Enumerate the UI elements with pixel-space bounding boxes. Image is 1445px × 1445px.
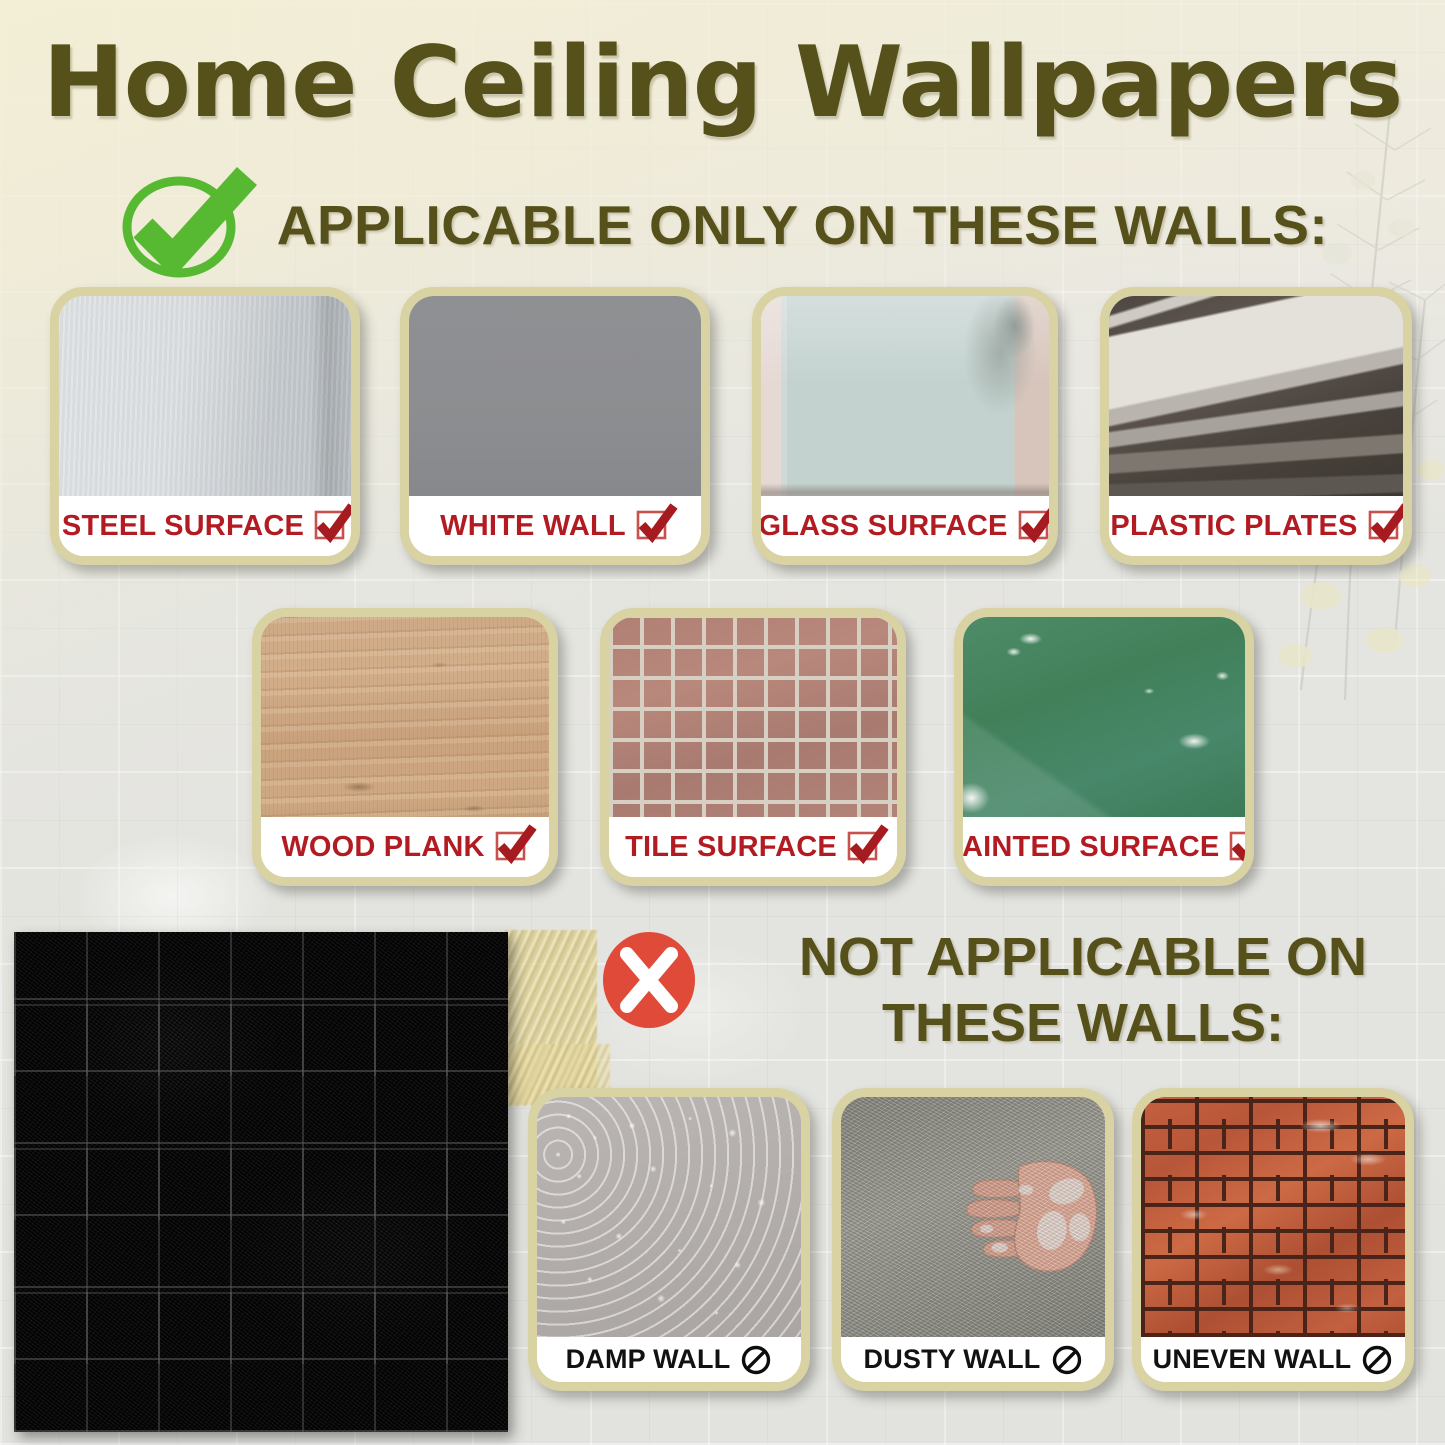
prohibition-icon	[1051, 1344, 1083, 1376]
card-label-strip: PLASTIC PLATES	[1109, 496, 1403, 556]
card-painted-surface[interactable]: PAINTED SURFACE	[954, 608, 1254, 886]
glass-surface-photo	[761, 296, 1049, 514]
panel-brick-offset-rows	[14, 932, 508, 1432]
card-label: WHITE WALL	[440, 510, 626, 543]
white-wall-photo	[409, 296, 701, 514]
applicable-header-row: APPLICABLE ONLY ON THESE WALLS:	[0, 170, 1445, 280]
applicable-subtitle: APPLICABLE ONLY ON THESE WALLS:	[277, 193, 1328, 257]
card-tile-surface[interactable]: TILE SURFACE	[600, 608, 906, 886]
card-dusty-wall[interactable]: DUSTY WALL	[832, 1088, 1114, 1391]
not-applicable-subtitle: NOT APPLICABLE ON THESE WALLS:	[726, 925, 1440, 1057]
card-label-strip: UNEVEN WALL	[1141, 1337, 1405, 1382]
prohibition-icon	[740, 1344, 772, 1376]
card-label-strip: WHITE WALL	[409, 496, 701, 556]
card-label: STEEL SURFACE	[62, 510, 304, 543]
uneven-brick-wall-photo	[1141, 1097, 1405, 1337]
card-label: DUSTY WALL	[864, 1344, 1041, 1375]
card-label: PLASTIC PLATES	[1110, 510, 1357, 543]
red-x-circle-icon	[600, 931, 698, 1029]
card-steel-surface[interactable]: STEEL SURFACE	[50, 287, 360, 565]
card-label: PAINTED SURFACE	[954, 831, 1219, 864]
dusty-wall-photo	[841, 1097, 1105, 1337]
red-check-box-icon	[1018, 510, 1052, 542]
card-label-strip: PAINTED SURFACE	[963, 817, 1245, 877]
red-check-box-icon	[636, 510, 670, 542]
not-applicable-header-row: NOT APPLICABLE ON THESE WALLS:	[600, 925, 1440, 1057]
plastic-plates-photo	[1109, 296, 1403, 514]
card-uneven-wall[interactable]: UNEVEN WALL	[1132, 1088, 1414, 1391]
card-label-strip: WOOD PLANK	[261, 817, 549, 877]
painted-surface-photo	[963, 617, 1245, 835]
card-white-wall[interactable]: WHITE WALL	[400, 287, 710, 565]
card-label-strip: DUSTY WALL	[841, 1337, 1105, 1382]
not-applicable-line-1: NOT APPLICABLE ON	[726, 925, 1440, 991]
green-check-circle-icon	[117, 170, 255, 280]
card-label: DAMP WALL	[566, 1344, 731, 1375]
card-wood-plank[interactable]: WOOD PLANK	[252, 608, 558, 886]
red-check-box-icon	[495, 831, 529, 863]
card-label: WOOD PLANK	[281, 831, 484, 864]
brick-offset-rows	[1141, 1097, 1405, 1337]
card-label-strip: DAMP WALL	[537, 1337, 801, 1382]
card-label-strip: GLASS SURFACE	[761, 496, 1049, 556]
card-damp-wall[interactable]: DAMP WALL	[528, 1088, 810, 1391]
red-check-box-icon	[314, 510, 348, 542]
steel-surface-photo	[59, 296, 351, 514]
card-plastic-plates[interactable]: PLASTIC PLATES	[1100, 287, 1412, 565]
wood-plank-photo	[261, 617, 549, 835]
card-label: GLASS SURFACE	[758, 510, 1007, 543]
black-3d-brick-foam-panel	[14, 932, 508, 1432]
card-label-strip: STEEL SURFACE	[59, 496, 351, 556]
hand-icon	[936, 1131, 1105, 1294]
not-applicable-line-2: THESE WALLS:	[726, 991, 1440, 1057]
page-title: Home Ceiling Wallpapers	[0, 26, 1445, 140]
card-glass-surface[interactable]: GLASS SURFACE	[752, 287, 1058, 565]
brick-highlights	[1141, 1097, 1405, 1337]
card-label: UNEVEN WALL	[1153, 1344, 1352, 1375]
card-label: TILE SURFACE	[625, 831, 837, 864]
infographic-poster: Home Ceiling Wallpapers APPLICABLE ONLY …	[0, 0, 1445, 1445]
red-check-box-icon	[847, 831, 881, 863]
card-label-strip: TILE SURFACE	[609, 817, 897, 877]
tile-surface-photo	[609, 617, 897, 835]
prohibition-icon	[1361, 1344, 1393, 1376]
red-check-box-icon	[1229, 831, 1254, 863]
red-check-box-icon	[1368, 510, 1402, 542]
damp-wall-photo	[537, 1097, 801, 1337]
